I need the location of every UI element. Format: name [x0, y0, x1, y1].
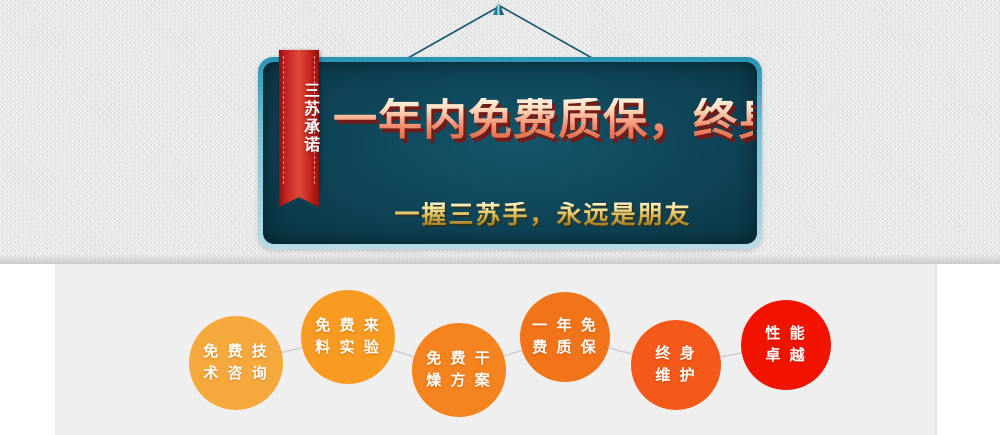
ribbon-label: 三苏承诺: [279, 62, 319, 174]
section-divider-shadow: [0, 254, 1000, 264]
flow-circle-6: 性 能卓 越: [741, 300, 831, 390]
flow-circle-label: 免 费 干燥 方 案: [426, 348, 491, 392]
sign-board-inner: 三苏承诺 一年内免费质保，终身维护 一握三苏手，永远是朋友: [263, 62, 757, 244]
flow-circle-label: 一 年 免费 质 保: [532, 315, 597, 359]
bottom-section: 免 费 技术 咨 询免 费 来料 实 验免 费 干燥 方 案一 年 免费 质 保…: [0, 264, 1000, 435]
flow-circle-5: 终 身维 护: [631, 320, 721, 410]
service-flow: 免 费 技术 咨 询免 费 来料 实 验免 费 干燥 方 案一 年 免费 质 保…: [0, 264, 1000, 435]
flow-circle-2: 免 费 来料 实 验: [301, 290, 395, 384]
banner-subtitle: 一握三苏手，永远是朋友: [333, 202, 753, 227]
sign-board: 三苏承诺 一年内免费质保，终身维护 一握三苏手，永远是朋友: [258, 57, 762, 249]
flow-circle-label: 性 能卓 越: [765, 323, 806, 367]
flow-circle-3: 免 费 干燥 方 案: [412, 323, 506, 417]
promotional-banner: 三苏承诺 一年内免费质保，终身维护 一握三苏手，永远是朋友 免 费 技术 咨 询…: [0, 0, 1000, 435]
banner-headline: 一年内免费质保，终身维护: [333, 98, 753, 142]
flow-circle-label: 免 费 来料 实 验: [315, 315, 380, 359]
flow-circle-label: 终 身维 护: [655, 343, 696, 387]
flow-circle-4: 一 年 免费 质 保: [520, 292, 610, 382]
flow-circle-1: 免 费 技术 咨 询: [189, 316, 283, 410]
promise-ribbon: 三苏承诺: [279, 50, 319, 190]
flow-circle-label: 免 费 技术 咨 询: [203, 341, 268, 385]
